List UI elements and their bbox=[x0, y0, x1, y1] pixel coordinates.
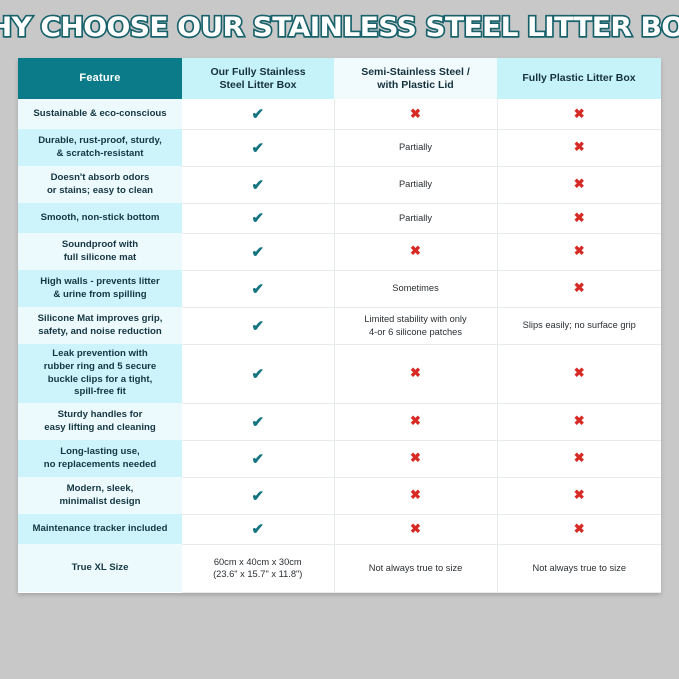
feature-text-line: buckle clips for a tight, bbox=[18, 374, 182, 387]
cross-icon: ✖ bbox=[574, 140, 585, 153]
check-icon: ✔ bbox=[251, 489, 264, 504]
check-icon: ✔ bbox=[251, 141, 264, 156]
value-cell-ours: ✔ bbox=[182, 307, 334, 344]
table-row: Modern, sleek,minimalist design✔✖✖ bbox=[18, 477, 661, 514]
column-header-ours-line1: Our Fully Stainless bbox=[182, 66, 334, 79]
value-cell-semi: ✖ bbox=[334, 477, 497, 514]
feature-text-line: or stains; easy to clean bbox=[18, 185, 182, 198]
column-header-plastic: Fully Plastic Litter Box bbox=[497, 58, 661, 99]
feature-text-line: full silicone mat bbox=[18, 252, 182, 265]
value-cell-semi: ✖ bbox=[334, 514, 497, 544]
value-cell-semi: Not always true to size bbox=[334, 544, 497, 592]
feature-text-line: Leak prevention with bbox=[18, 348, 182, 361]
value-cell-ours: ✔ bbox=[182, 270, 334, 307]
column-header-semi-line1: Semi-Stainless Steel / bbox=[334, 66, 497, 79]
feature-text-line: minimalist design bbox=[18, 496, 182, 509]
table-header: Feature Our Fully Stainless Steel Litter… bbox=[18, 58, 661, 99]
feature-text-line: & scratch-resistant bbox=[18, 148, 182, 161]
feature-text-line: Maintenance tracker included bbox=[18, 523, 182, 536]
feature-text-line: easy lifting and cleaning bbox=[18, 422, 182, 435]
value-cell-plastic: Not always true to size bbox=[497, 544, 661, 592]
cross-icon: ✖ bbox=[410, 451, 421, 464]
table-row: Maintenance tracker included✔✖✖ bbox=[18, 514, 661, 544]
feature-cell: Modern, sleek,minimalist design bbox=[18, 477, 182, 514]
cell-text-line: (23.6" x 15.7" x 11.8") bbox=[182, 568, 334, 580]
check-icon: ✔ bbox=[251, 319, 264, 334]
value-cell-plastic: ✖ bbox=[497, 129, 661, 166]
table-row: Leak prevention withrubber ring and 5 se… bbox=[18, 344, 661, 403]
feature-cell: True XL Size bbox=[18, 544, 182, 592]
value-cell-ours: ✔ bbox=[182, 203, 334, 233]
feature-cell: Doesn't absorb odorsor stains; easy to c… bbox=[18, 166, 182, 203]
value-cell-plastic: ✖ bbox=[497, 403, 661, 440]
check-icon: ✔ bbox=[251, 367, 264, 382]
page-title: WHY CHOOSE OUR STAINLESS STEEL LITTER BO… bbox=[0, 12, 679, 43]
feature-text-line: Modern, sleek, bbox=[18, 483, 182, 496]
value-cell-ours: ✔ bbox=[182, 514, 334, 544]
value-cell-plastic: ✖ bbox=[497, 166, 661, 203]
value-cell-semi: ✖ bbox=[334, 233, 497, 270]
check-icon: ✔ bbox=[251, 107, 264, 122]
cross-icon: ✖ bbox=[410, 107, 421, 120]
value-cell-ours: ✔ bbox=[182, 477, 334, 514]
value-cell-plastic: ✖ bbox=[497, 270, 661, 307]
check-icon: ✔ bbox=[251, 452, 264, 467]
table-row: High walls - prevents litter& urine from… bbox=[18, 270, 661, 307]
cross-icon: ✖ bbox=[574, 107, 585, 120]
value-cell-plastic: ✖ bbox=[497, 203, 661, 233]
column-header-ours-line2: Steel Litter Box bbox=[182, 79, 334, 92]
title-banner: WHY CHOOSE OUR STAINLESS STEEL LITTER BO… bbox=[0, 0, 679, 55]
feature-cell: Leak prevention withrubber ring and 5 se… bbox=[18, 344, 182, 403]
cross-icon: ✖ bbox=[410, 522, 421, 535]
value-cell-ours: ✔ bbox=[182, 99, 334, 129]
feature-text-line: Long-lasting use, bbox=[18, 446, 182, 459]
value-cell-semi: ✖ bbox=[334, 344, 497, 403]
table-row: Smooth, non-stick bottom✔Partially✖ bbox=[18, 203, 661, 233]
cross-icon: ✖ bbox=[574, 211, 585, 224]
cross-icon: ✖ bbox=[574, 244, 585, 257]
cell-text-line: Limited stability with only bbox=[335, 313, 497, 325]
value-cell-semi: ✖ bbox=[334, 403, 497, 440]
comparison-infographic: WHY CHOOSE OUR STAINLESS STEEL LITTER BO… bbox=[0, 0, 679, 679]
feature-text-line: spill-free fit bbox=[18, 386, 182, 399]
feature-text-line: no replacements needed bbox=[18, 459, 182, 472]
column-header-semi: Semi-Stainless Steel / with Plastic Lid bbox=[334, 58, 497, 99]
check-icon: ✔ bbox=[251, 522, 264, 537]
table-row: Sturdy handles foreasy lifting and clean… bbox=[18, 403, 661, 440]
feature-cell: Maintenance tracker included bbox=[18, 514, 182, 544]
cross-icon: ✖ bbox=[410, 366, 421, 379]
column-header-semi-line2: with Plastic Lid bbox=[334, 79, 497, 92]
cell-text-line: 4-or 6 silicone patches bbox=[335, 326, 497, 338]
cross-icon: ✖ bbox=[574, 177, 585, 190]
value-cell-semi: ✖ bbox=[334, 99, 497, 129]
value-cell-semi: Partially bbox=[334, 129, 497, 166]
table-row: Soundproof withfull silicone mat✔✖✖ bbox=[18, 233, 661, 270]
feature-cell: Sturdy handles foreasy lifting and clean… bbox=[18, 403, 182, 440]
feature-cell: Long-lasting use,no replacements needed bbox=[18, 440, 182, 477]
comparison-table: Feature Our Fully Stainless Steel Litter… bbox=[18, 58, 661, 593]
value-cell-semi: ✖ bbox=[334, 440, 497, 477]
table-row: Long-lasting use,no replacements needed✔… bbox=[18, 440, 661, 477]
cross-icon: ✖ bbox=[574, 414, 585, 427]
feature-text-line: Smooth, non-stick bottom bbox=[18, 212, 182, 225]
check-icon: ✔ bbox=[251, 178, 264, 193]
cross-icon: ✖ bbox=[410, 414, 421, 427]
value-cell-plastic: ✖ bbox=[497, 344, 661, 403]
value-cell-plastic: ✖ bbox=[497, 514, 661, 544]
feature-text-line: & urine from spilling bbox=[18, 289, 182, 302]
feature-cell: High walls - prevents litter& urine from… bbox=[18, 270, 182, 307]
feature-text-line: Sustainable & eco-conscious bbox=[18, 108, 182, 121]
table-row: Sustainable & eco-conscious✔✖✖ bbox=[18, 99, 661, 129]
cell-text-line: 60cm x 40cm x 30cm bbox=[182, 556, 334, 568]
cross-icon: ✖ bbox=[574, 522, 585, 535]
table-row: Doesn't absorb odorsor stains; easy to c… bbox=[18, 166, 661, 203]
feature-text-line: Durable, rust-proof, sturdy, bbox=[18, 135, 182, 148]
feature-text-line: High walls - prevents litter bbox=[18, 276, 182, 289]
cross-icon: ✖ bbox=[410, 244, 421, 257]
feature-cell: Soundproof withfull silicone mat bbox=[18, 233, 182, 270]
value-cell-plastic: ✖ bbox=[497, 440, 661, 477]
feature-text-line: rubber ring and 5 secure bbox=[18, 361, 182, 374]
check-icon: ✔ bbox=[251, 245, 264, 260]
cross-icon: ✖ bbox=[574, 281, 585, 294]
value-cell-plastic: ✖ bbox=[497, 233, 661, 270]
value-cell-ours: ✔ bbox=[182, 403, 334, 440]
value-cell-ours: ✔ bbox=[182, 233, 334, 270]
cross-icon: ✖ bbox=[574, 451, 585, 464]
value-cell-plastic: Slips easily; no surface grip bbox=[497, 307, 661, 344]
value-cell-plastic: ✖ bbox=[497, 477, 661, 514]
feature-cell: Smooth, non-stick bottom bbox=[18, 203, 182, 233]
table-row: Silicone Mat improves grip,safety, and n… bbox=[18, 307, 661, 344]
value-cell-ours: ✔ bbox=[182, 440, 334, 477]
column-header-feature: Feature bbox=[18, 58, 182, 99]
feature-text-line: safety, and noise reduction bbox=[18, 326, 182, 339]
feature-text-line: True XL Size bbox=[18, 562, 182, 575]
header-row: Feature Our Fully Stainless Steel Litter… bbox=[18, 58, 661, 99]
column-header-ours: Our Fully Stainless Steel Litter Box bbox=[182, 58, 334, 99]
table-row: Durable, rust-proof, sturdy,& scratch-re… bbox=[18, 129, 661, 166]
table-row: True XL Size60cm x 40cm x 30cm(23.6" x 1… bbox=[18, 544, 661, 592]
feature-cell: Durable, rust-proof, sturdy,& scratch-re… bbox=[18, 129, 182, 166]
feature-cell: Silicone Mat improves grip,safety, and n… bbox=[18, 307, 182, 344]
cross-icon: ✖ bbox=[410, 488, 421, 501]
check-icon: ✔ bbox=[251, 282, 264, 297]
feature-text-line: Soundproof with bbox=[18, 239, 182, 252]
value-cell-ours: 60cm x 40cm x 30cm(23.6" x 15.7" x 11.8"… bbox=[182, 544, 334, 592]
value-cell-semi: Sometimes bbox=[334, 270, 497, 307]
cross-icon: ✖ bbox=[574, 488, 585, 501]
value-cell-ours: ✔ bbox=[182, 344, 334, 403]
feature-text-line: Sturdy handles for bbox=[18, 409, 182, 422]
value-cell-semi: Partially bbox=[334, 166, 497, 203]
check-icon: ✔ bbox=[251, 211, 264, 226]
value-cell-semi: Partially bbox=[334, 203, 497, 233]
check-icon: ✔ bbox=[251, 415, 264, 430]
value-cell-plastic: ✖ bbox=[497, 99, 661, 129]
value-cell-ours: ✔ bbox=[182, 129, 334, 166]
table-body: Sustainable & eco-conscious✔✖✖Durable, r… bbox=[18, 99, 661, 592]
value-cell-semi: Limited stability with only4-or 6 silico… bbox=[334, 307, 497, 344]
value-cell-ours: ✔ bbox=[182, 166, 334, 203]
feature-cell: Sustainable & eco-conscious bbox=[18, 99, 182, 129]
feature-text-line: Doesn't absorb odors bbox=[18, 172, 182, 185]
feature-text-line: Silicone Mat improves grip, bbox=[18, 313, 182, 326]
cross-icon: ✖ bbox=[574, 366, 585, 379]
